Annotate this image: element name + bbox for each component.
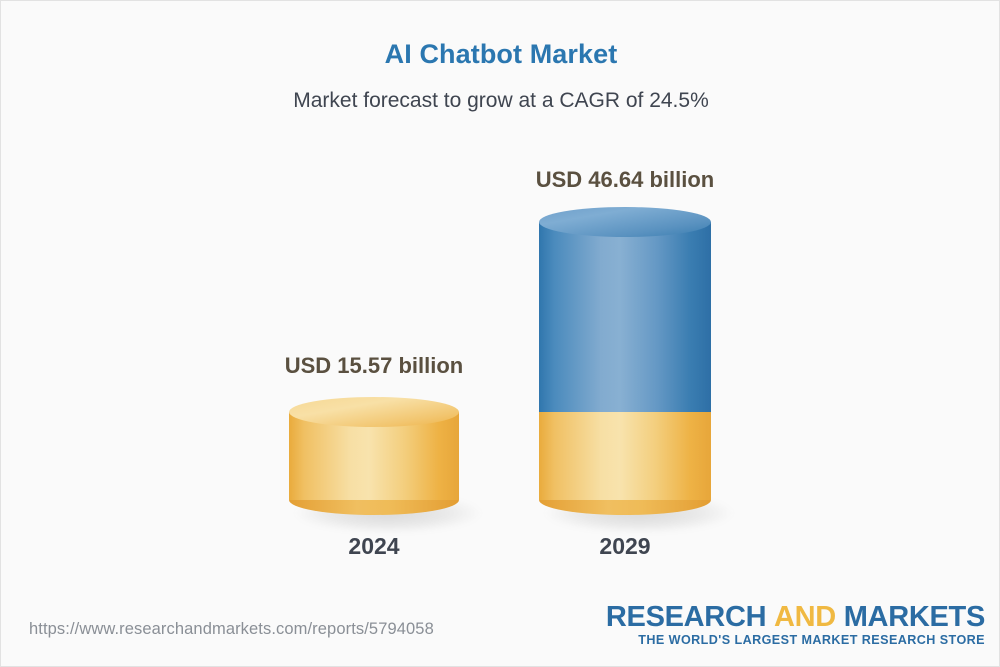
cylinder-2029[interactable] [539, 207, 711, 519]
logo-tagline: THE WORLD'S LARGEST MARKET RESEARCH STOR… [606, 633, 985, 647]
plot-area: USD 15.57 billion 2024 USD 46.64 billion [1, 1, 1000, 601]
cylinder-2029-blue-body [539, 222, 711, 412]
value-label-2029-text: USD 46.64 billion [536, 167, 715, 192]
cylinder-2029-top-cap [539, 207, 711, 237]
footer: https://www.researchandmarkets.com/repor… [1, 594, 1000, 666]
cylinder-2029-gold-segment [539, 397, 711, 519]
cylinder-2029-blue-segment [539, 207, 711, 412]
source-url[interactable]: https://www.researchandmarkets.com/repor… [29, 620, 434, 639]
chart-canvas: AI Chatbot Market Market forecast to gro… [0, 0, 1000, 667]
category-label-2029: 2029 [495, 533, 755, 560]
logo-word-research: RESEARCH [606, 601, 766, 633]
logo-word-markets: MARKETS [844, 601, 985, 633]
value-label-2029: USD 46.64 billion [455, 167, 795, 193]
logo-word-and: AND [774, 601, 836, 633]
cylinder-2029-gold-body [539, 397, 711, 500]
logo-wordmark: RESEARCH AND MARKETS [606, 602, 985, 632]
bar-group-2029: USD 46.64 billion 2029 [1, 1, 1000, 601]
research-and-markets-logo[interactable]: RESEARCH AND MARKETS THE WORLD'S LARGEST… [606, 602, 985, 647]
